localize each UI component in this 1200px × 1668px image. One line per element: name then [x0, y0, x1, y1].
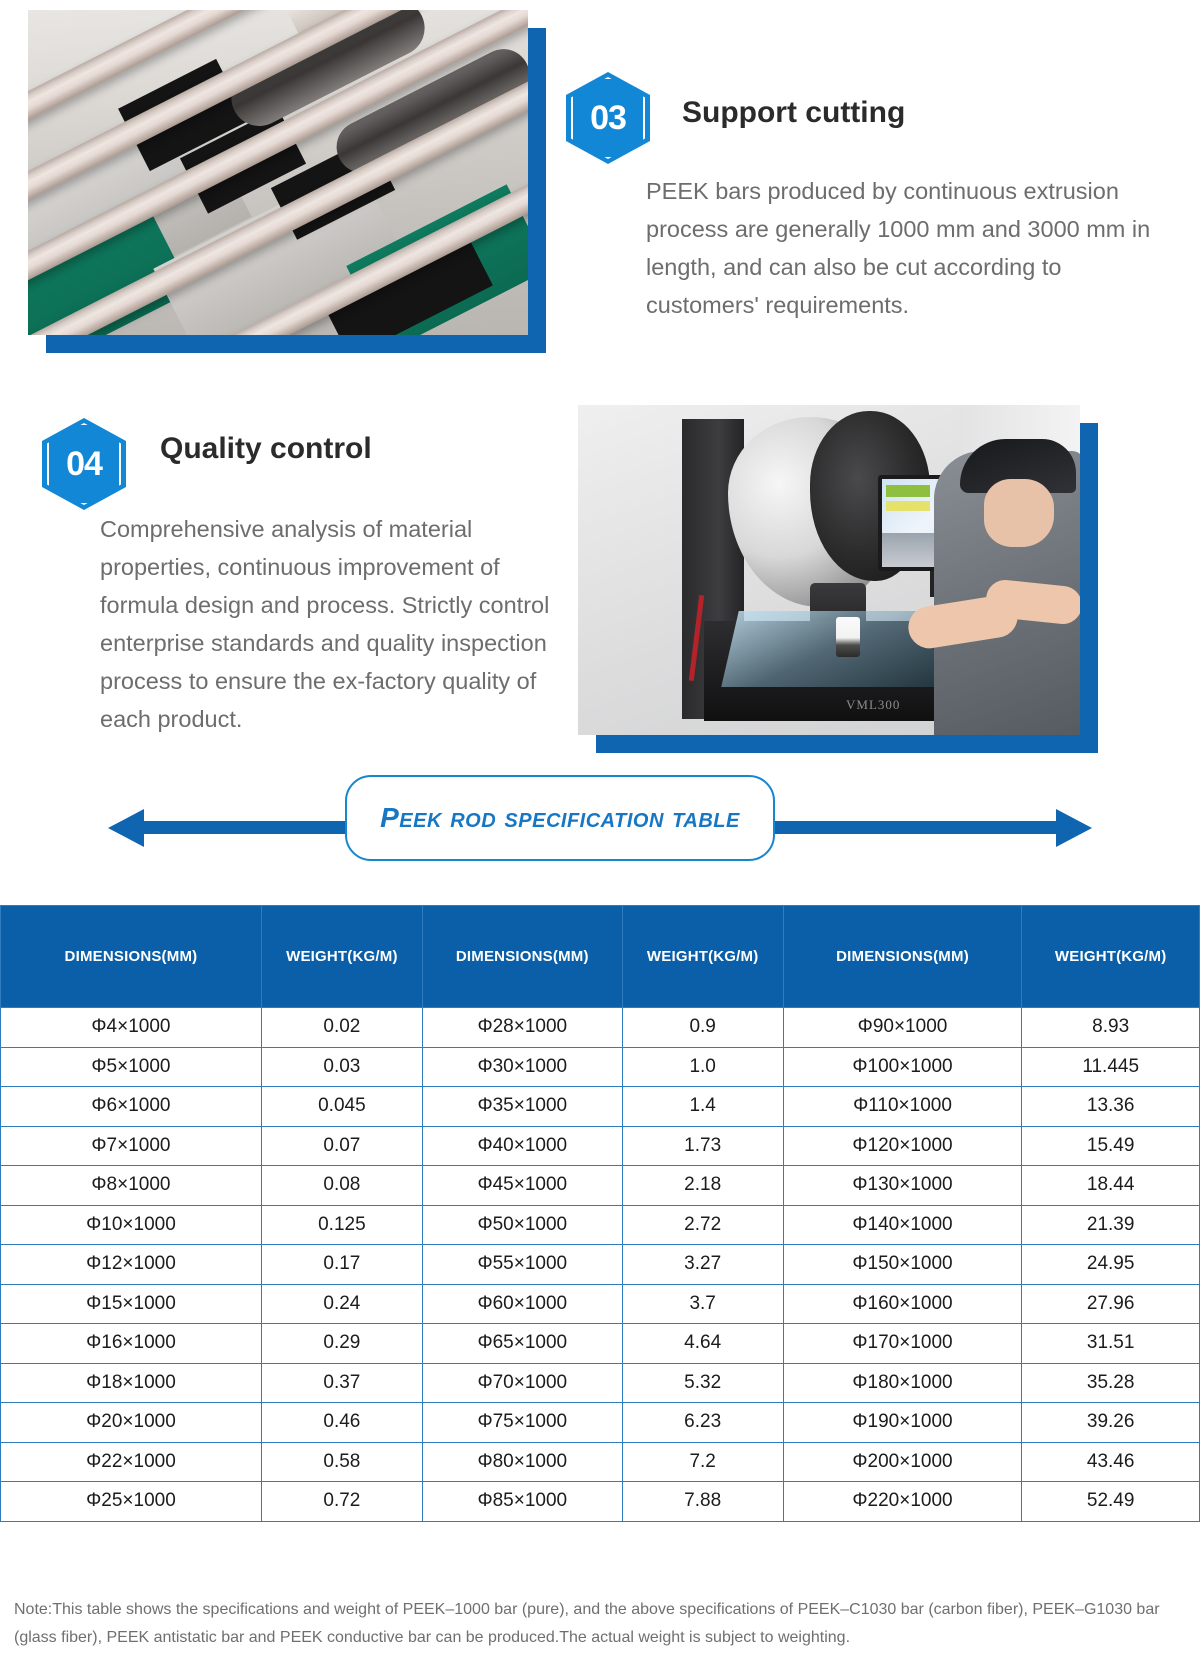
table-cell: 11.445: [1022, 1047, 1200, 1087]
table-cell: 39.26: [1022, 1403, 1200, 1443]
table-cell: 0.9: [622, 1008, 783, 1048]
table-cell: 4.64: [622, 1324, 783, 1364]
table-cell: 13.36: [1022, 1087, 1200, 1127]
table-cell: Φ75×1000: [422, 1403, 622, 1443]
hexagon-icon: 03: [566, 72, 650, 164]
table-cell: Φ180×1000: [783, 1363, 1022, 1403]
inspection-scene: VML300: [578, 405, 1080, 735]
table-cell: 0.08: [261, 1166, 422, 1206]
table-row: Φ6×10000.045Φ35×10001.4Φ110×100013.36: [1, 1087, 1200, 1127]
table-cell: 7.2: [622, 1442, 783, 1482]
table-row: Φ7×10000.07Φ40×10001.73Φ120×100015.49: [1, 1126, 1200, 1166]
table-cell: Φ190×1000: [783, 1403, 1022, 1443]
table-cell: Φ140×1000: [783, 1205, 1022, 1245]
table-cell: Φ12×1000: [1, 1245, 262, 1285]
machine-model-label: VML300: [846, 697, 900, 713]
table-cell: 5.32: [622, 1363, 783, 1403]
table-cell: 0.58: [261, 1442, 422, 1482]
photo-quality-control: VML300: [578, 405, 1080, 735]
table-cell: Φ6×1000: [1, 1087, 262, 1127]
table-cell: Φ4×1000: [1, 1008, 262, 1048]
table-cell: 35.28: [1022, 1363, 1200, 1403]
table-cell: 0.17: [261, 1245, 422, 1285]
table-cell: 3.7: [622, 1284, 783, 1324]
table-cell: 27.96: [1022, 1284, 1200, 1324]
table-cell: Φ18×1000: [1, 1363, 262, 1403]
table-cell: Φ100×1000: [783, 1047, 1022, 1087]
table-cell: Φ170×1000: [783, 1324, 1022, 1364]
table-cell: Φ85×1000: [422, 1482, 622, 1522]
table-cell: Φ60×1000: [422, 1284, 622, 1324]
table-cell: Φ120×1000: [783, 1126, 1022, 1166]
table-cell: Φ90×1000: [783, 1008, 1022, 1048]
table-cell: 0.37: [261, 1363, 422, 1403]
table-cell: 0.29: [261, 1324, 422, 1364]
table-cell: Φ16×1000: [1, 1324, 262, 1364]
table-cell: 1.73: [622, 1126, 783, 1166]
table-row: Φ8×10000.08Φ45×10002.18Φ130×100018.44: [1, 1166, 1200, 1206]
table-row: Φ5×10000.03Φ30×10001.0Φ100×100011.445: [1, 1047, 1200, 1087]
column-header: WEIGHT(KG/M): [1022, 906, 1200, 1008]
table-cell: Φ220×1000: [783, 1482, 1022, 1522]
table-row: Φ20×10000.46Φ75×10006.23Φ190×100039.26: [1, 1403, 1200, 1443]
table-cell: Φ25×1000: [1, 1482, 262, 1522]
table-cell: Φ150×1000: [783, 1245, 1022, 1285]
table-cell: 0.07: [261, 1126, 422, 1166]
table-footnote: Note:This table shows the specifications…: [14, 1596, 1189, 1651]
table-cell: 18.44: [1022, 1166, 1200, 1206]
photo-quality-control-image: VML300: [578, 405, 1080, 735]
table-cell: Φ7×1000: [1, 1126, 262, 1166]
table-cell: Φ5×1000: [1, 1047, 262, 1087]
table-cell: Φ65×1000: [422, 1324, 622, 1364]
table-cell: Φ130×1000: [783, 1166, 1022, 1206]
table-row: Φ18×10000.37Φ70×10005.32Φ180×100035.28: [1, 1363, 1200, 1403]
photo-peek-rods: [28, 10, 528, 335]
table-cell: Φ80×1000: [422, 1442, 622, 1482]
table-cell: Φ160×1000: [783, 1284, 1022, 1324]
table-cell: 2.18: [622, 1166, 783, 1206]
table-cell: 8.93: [1022, 1008, 1200, 1048]
table-cell: Φ70×1000: [422, 1363, 622, 1403]
spec-table-wrapper: DIMENSIONS(MM) WEIGHT(KG/M) DIMENSIONS(M…: [0, 905, 1200, 1522]
table-cell: 31.51: [1022, 1324, 1200, 1364]
table-cell: Φ200×1000: [783, 1442, 1022, 1482]
table-cell: Φ10×1000: [1, 1205, 262, 1245]
table-cell: Φ8×1000: [1, 1166, 262, 1206]
table-cell: Φ45×1000: [422, 1166, 622, 1206]
table-cell: Φ28×1000: [422, 1008, 622, 1048]
photo-peek-rods-image: [28, 10, 528, 335]
table-row: Φ25×10000.72Φ85×10007.88Φ220×100052.49: [1, 1482, 1200, 1522]
step-body-03: PEEK bars produced by continuous extrusi…: [646, 172, 1176, 324]
column-header: WEIGHT(KG/M): [622, 906, 783, 1008]
column-header: WEIGHT(KG/M): [261, 906, 422, 1008]
column-header: DIMENSIONS(MM): [1, 906, 262, 1008]
section-title: Peek rod specification table: [380, 802, 740, 834]
table-row: Φ16×10000.29Φ65×10004.64Φ170×100031.51: [1, 1324, 1200, 1364]
step-body-04: Comprehensive analysis of material prope…: [100, 510, 570, 738]
conveyor-scene: [28, 10, 528, 335]
table-cell: 0.125: [261, 1205, 422, 1245]
step-title-04: Quality control: [160, 432, 372, 466]
table-cell: 1.0: [622, 1047, 783, 1087]
table-cell: 15.49: [1022, 1126, 1200, 1166]
table-cell: Φ110×1000: [783, 1087, 1022, 1127]
table-row: Φ15×10000.24Φ60×10003.7Φ160×100027.96: [1, 1284, 1200, 1324]
table-cell: Φ30×1000: [422, 1047, 622, 1087]
table-cell: 0.03: [261, 1047, 422, 1087]
column-header: DIMENSIONS(MM): [422, 906, 622, 1008]
table-cell: 0.045: [261, 1087, 422, 1127]
table-cell: 43.46: [1022, 1442, 1200, 1482]
table-cell: 24.95: [1022, 1245, 1200, 1285]
arrow-right-icon: [1056, 809, 1092, 847]
table-row: Φ22×10000.58Φ80×10007.2Φ200×100043.46: [1, 1442, 1200, 1482]
table-cell: Φ22×1000: [1, 1442, 262, 1482]
peek-rod-spec-table: DIMENSIONS(MM) WEIGHT(KG/M) DIMENSIONS(M…: [0, 905, 1200, 1522]
table-cell: 1.4: [622, 1087, 783, 1127]
step-badge-04: 04: [42, 418, 126, 510]
table-cell: 7.88: [622, 1482, 783, 1522]
table-cell: Φ50×1000: [422, 1205, 622, 1245]
table-cell: 6.23: [622, 1403, 783, 1443]
table-cell: Φ15×1000: [1, 1284, 262, 1324]
table-cell: Φ20×1000: [1, 1403, 262, 1443]
table-cell: Φ55×1000: [422, 1245, 622, 1285]
step-number: 04: [66, 445, 102, 484]
step-title-03: Support cutting: [682, 96, 905, 130]
column-header: DIMENSIONS(MM): [783, 906, 1022, 1008]
section-title-box: Peek rod specification table: [345, 775, 775, 861]
table-cell: Φ40×1000: [422, 1126, 622, 1166]
table-cell: 3.27: [622, 1245, 783, 1285]
table-cell: 2.72: [622, 1205, 783, 1245]
table-cell: 0.02: [261, 1008, 422, 1048]
table-header-row: DIMENSIONS(MM) WEIGHT(KG/M) DIMENSIONS(M…: [1, 906, 1200, 1008]
table-cell: 0.24: [261, 1284, 422, 1324]
table-row: Φ10×10000.125Φ50×10002.72Φ140×100021.39: [1, 1205, 1200, 1245]
step-badge-03: 03: [566, 72, 650, 164]
product-spec-page: 03 Support cutting PEEK bars produced by…: [0, 0, 1200, 1668]
table-row: Φ12×10000.17Φ55×10003.27Φ150×100024.95: [1, 1245, 1200, 1285]
table-cell: 0.46: [261, 1403, 422, 1443]
table-row: Φ4×10000.02Φ28×10000.9Φ90×10008.93: [1, 1008, 1200, 1048]
table-cell: 21.39: [1022, 1205, 1200, 1245]
step-number: 03: [590, 99, 626, 138]
hexagon-icon: 04: [42, 418, 126, 510]
table-body: Φ4×10000.02Φ28×10000.9Φ90×10008.93Φ5×100…: [1, 1008, 1200, 1522]
table-cell: Φ35×1000: [422, 1087, 622, 1127]
table-cell: 52.49: [1022, 1482, 1200, 1522]
table-cell: 0.72: [261, 1482, 422, 1522]
